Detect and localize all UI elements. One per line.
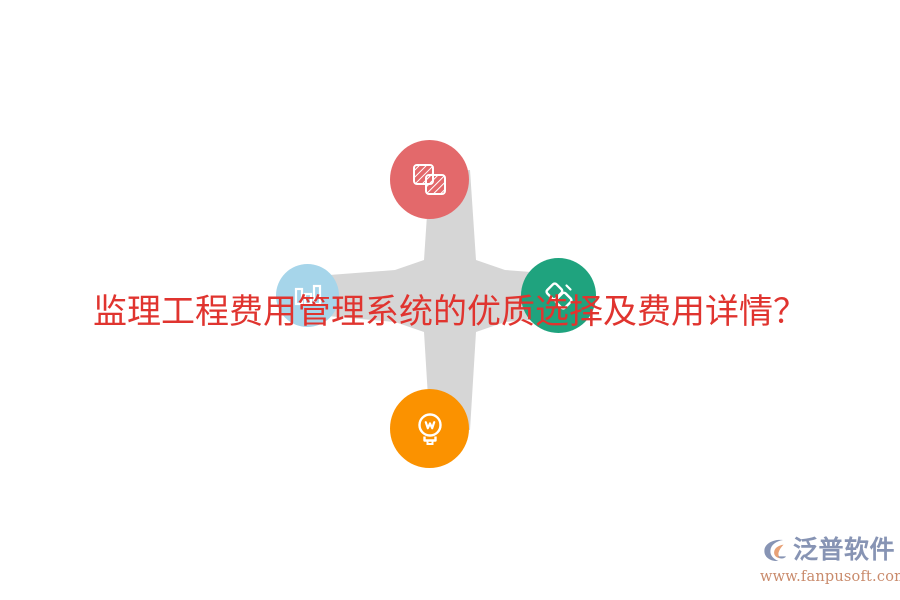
overlapping-striped-squares-icon <box>410 160 450 200</box>
brand-watermark: 泛普软件 www.fanpusoft.com <box>760 534 892 590</box>
node-bottom[interactable] <box>390 389 469 468</box>
fanpu-logo-icon <box>760 536 788 564</box>
poster-canvas: 监理工程费用管理系统的优质选择及费用详情？ 泛普软件 www.fanpusoft… <box>0 0 900 600</box>
brand-name: 泛普软件 <box>793 536 895 564</box>
brand-url: www.fanpusoft.com <box>760 569 892 585</box>
page-title: 监理工程费用管理系统的优质选择及费用详情？ <box>0 290 900 336</box>
node-top[interactable] <box>390 140 469 219</box>
brand-row: 泛普软件 <box>760 534 892 566</box>
lightbulb-icon <box>411 410 449 448</box>
